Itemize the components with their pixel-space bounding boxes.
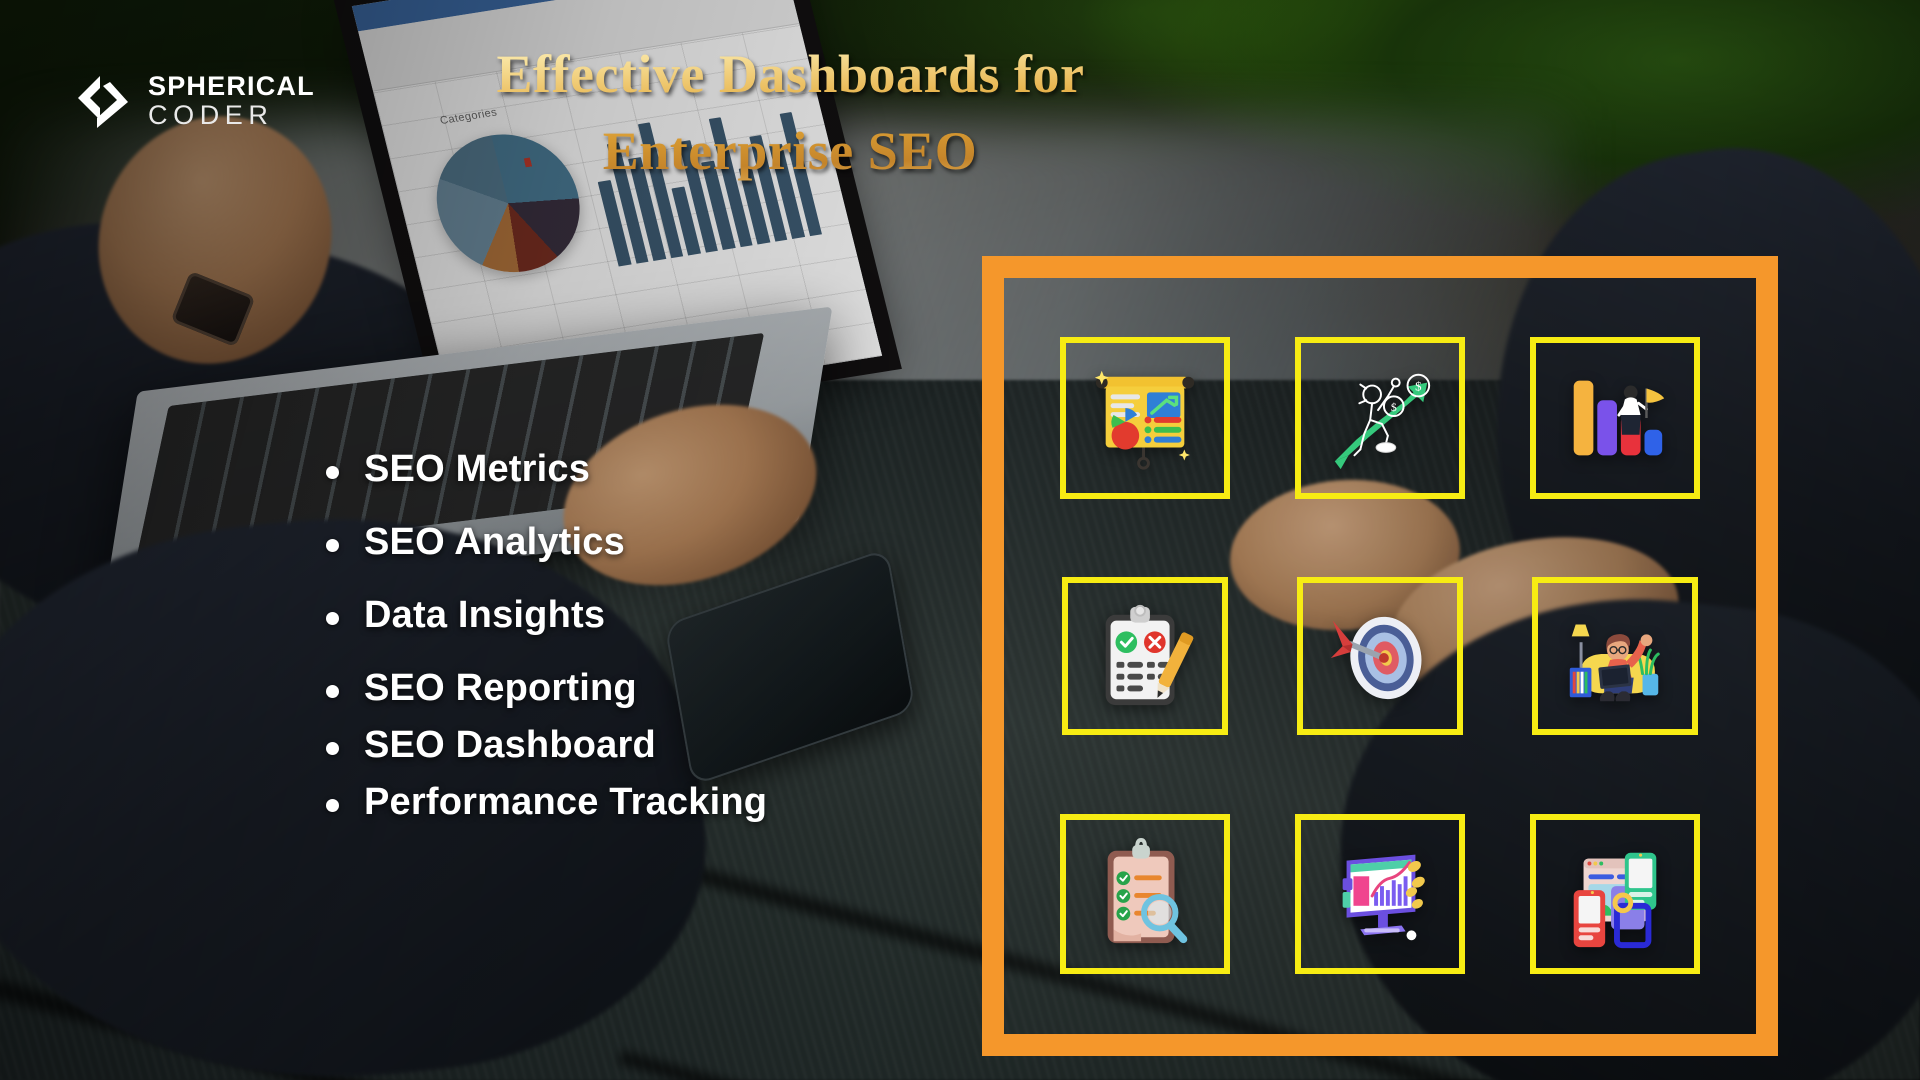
- icon-panel: $ $: [982, 256, 1778, 1056]
- keyword-list: SEO Metrics SEO Analytics Data Insights …: [318, 448, 878, 854]
- svg-text:$: $: [1415, 379, 1421, 393]
- tile-frame: [1295, 814, 1465, 974]
- tile-frame: [1297, 577, 1463, 735]
- bar-chart-achievement-icon: [1556, 359, 1674, 477]
- tile-frame: [1532, 577, 1698, 735]
- tile-remote-work[interactable]: [1503, 540, 1728, 772]
- list-item: SEO Dashboard: [318, 724, 878, 767]
- list-item: Performance Tracking: [318, 781, 878, 824]
- tile-target-dart[interactable]: [1267, 540, 1492, 772]
- brand-logo[interactable]: SPHERICAL CODER: [70, 72, 315, 130]
- tile-frame: $ $: [1295, 337, 1465, 499]
- growth-arrow-money-icon: $ $: [1321, 359, 1439, 477]
- list-item: SEO Metrics: [318, 448, 878, 491]
- icon-grid: $ $: [1004, 278, 1756, 1034]
- brand-name-secondary: CODER: [148, 102, 315, 129]
- slide-canvas: Categories: [0, 0, 1920, 1080]
- tile-checklist-audit[interactable]: [1032, 540, 1257, 772]
- page-title-line1: Effective Dashboards for: [497, 44, 1084, 104]
- person-laptop-beanbag-icon: [1556, 597, 1674, 715]
- tile-frame: [1060, 337, 1230, 499]
- svg-text:$: $: [1391, 400, 1397, 414]
- list-item: Data Insights: [318, 594, 878, 637]
- tile-desktop-analytics[interactable]: [1267, 778, 1492, 1010]
- list-item: SEO Analytics: [318, 521, 878, 564]
- tile-frame: [1060, 814, 1230, 974]
- tile-multi-device[interactable]: [1503, 778, 1728, 1010]
- list-item: SEO Reporting: [318, 667, 878, 710]
- brand-name-primary: SPHERICAL: [148, 73, 315, 100]
- target-dart-icon: [1321, 597, 1439, 715]
- tile-frame: [1530, 337, 1700, 499]
- tile-growth-arrow[interactable]: $ $: [1267, 302, 1492, 534]
- tile-presentation-chart[interactable]: [1032, 302, 1257, 534]
- multi-device-screens-icon: [1556, 835, 1674, 953]
- page-title-line2: Enterprise SEO: [603, 121, 978, 181]
- brand-wordmark: SPHERICAL CODER: [148, 73, 315, 129]
- checklist-magnifier-icon: [1086, 835, 1204, 953]
- code-brackets-icon: [70, 72, 134, 130]
- clipboard-check-cross-icon: [1086, 597, 1204, 715]
- tile-bar-chart-flag[interactable]: [1503, 302, 1728, 534]
- tile-frame: [1062, 577, 1228, 735]
- monitor-analytics-icon: [1321, 835, 1439, 953]
- tile-audit-magnifier[interactable]: [1032, 778, 1257, 1010]
- page-title: Effective Dashboards for Enterprise SEO: [480, 36, 1100, 189]
- tile-frame: [1530, 814, 1700, 974]
- presentation-chart-icon: [1086, 359, 1204, 477]
